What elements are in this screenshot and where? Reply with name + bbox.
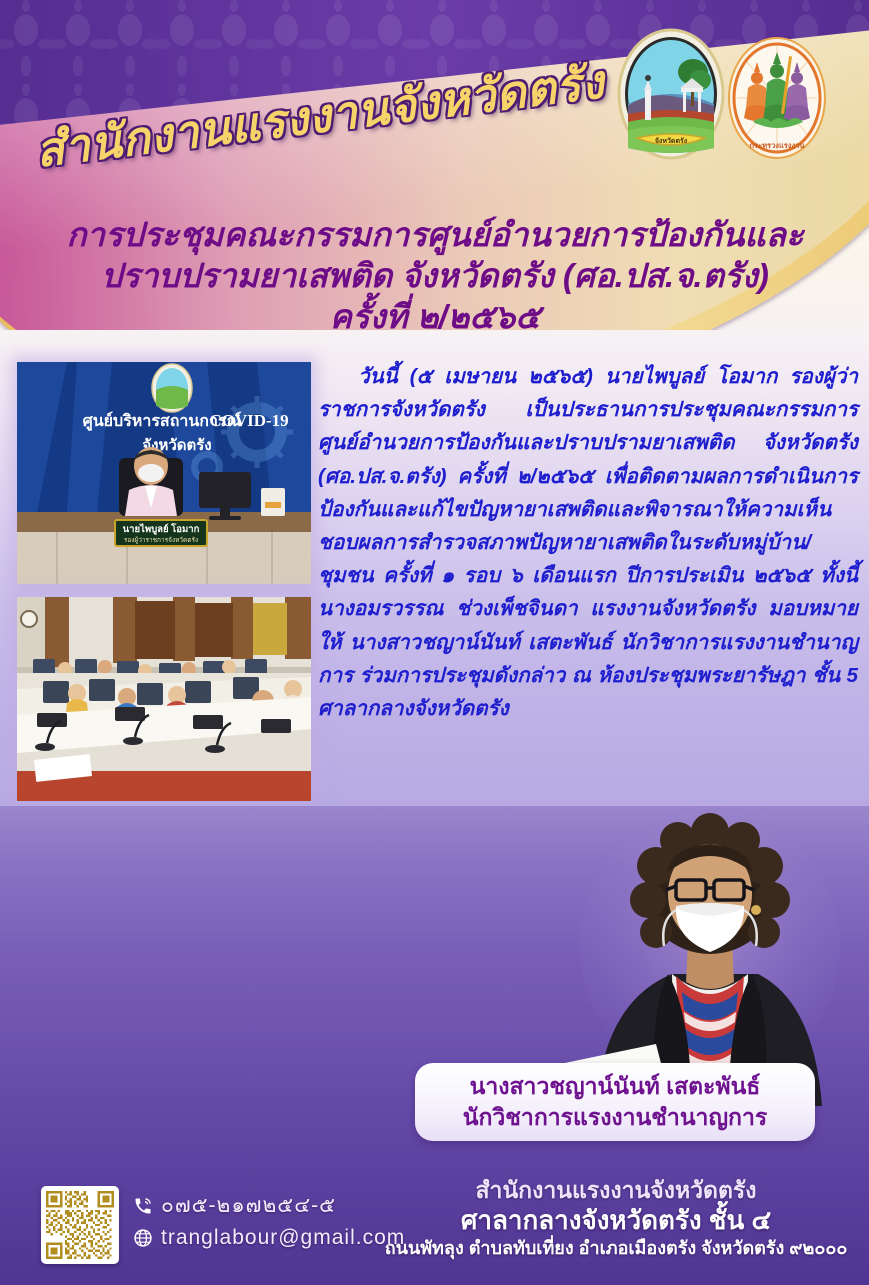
globe-icon [133,1228,153,1248]
featured-person-nameplate: นางสาวชญาน์นันท์ เสตะพันธ์ นักวิชาการแรง… [415,1063,815,1141]
person-position: นักวิชาการแรงงานชำนาญการ [463,1102,768,1133]
person-name: นางสาวชญาน์นันท์ เสตะพันธ์ [470,1071,761,1102]
page-title: การประชุมคณะกรรมการศูนย์อำนวยการป้องกันแ… [40,214,830,337]
title-line-3: ครั้งที่ ๒/๒๕๖๕ [40,296,830,337]
title-line-1: การประชุมคณะกรรมการศูนย์อำนวยการป้องกันแ… [40,214,830,255]
qr-code[interactable] [41,1186,119,1264]
poster-root: สำนักงานแรงงานจังหวัดตรัง จังหวัดตรัง [0,0,869,1285]
article-paragraph: วันนี้ (๕ เมษายน ๒๕๖๕) นายไพบูลย์ โอมาก … [318,365,858,720]
labour-emblem-caption: กระทรวงแรงงาน [750,141,806,150]
photo-meeting-hall-attendees [17,597,311,801]
footer-address-block: สำนักงานแรงงานจังหวัดตรัง ศาลากลางจังหวั… [370,1176,862,1261]
phone-icon [133,1196,153,1216]
article-body: วันนี้ (๕ เมษายน ๒๕๖๕) นายไพบูลย์ โอมาก … [318,360,858,725]
qr-code-icon [46,1191,114,1259]
title-line-2: ปราบปรามยาเสพติด จังหวัดตรัง (ศอ.ปส.จ.ตร… [40,255,830,296]
trang-province-emblem-icon: จังหวัดตรัง [617,26,725,162]
phone-number: ๐๗๕-๒๑๗๒๕๔-๕ [161,1195,336,1217]
contact-phone-row: ๐๗๕-๒๑๗๒๕๔-๕ [133,1190,405,1222]
photo-covid-briefing-room: ศูนย์บริหารสถานการณ์ COVID-19 จังหวัดตรั… [17,362,311,584]
footer-office: สำนักงานแรงงานจังหวัดตรัง [370,1176,862,1204]
footer-building: ศาลากลางจังหวัดตรัง ชั้น ๔ [370,1204,862,1236]
ministry-of-labour-emblem-icon: กระทรวงแรงงาน [727,36,827,164]
photo1-nameplate: นายไพบูลย์ โอมาก [123,523,200,536]
contact-list: ๐๗๕-๒๑๗๒๕๔-๕ tranglabour@gmail.com [133,1190,405,1254]
footer-address: ถนนพัทลุง ตำบลทับเที่ยง อำเภอเมืองตรัง จ… [370,1236,862,1261]
photo1-nameplate-sub: รองผู้ว่าราชการจังหวัดตรัง [124,536,198,544]
featured-person-photo [560,806,860,1106]
contact-email-row: tranglabour@gmail.com [133,1222,405,1254]
svg-text:COVID-19: COVID-19 [209,411,288,430]
email-address: tranglabour@gmail.com [161,1227,405,1249]
trang-emblem-caption: จังหวัดตรัง [655,137,688,145]
